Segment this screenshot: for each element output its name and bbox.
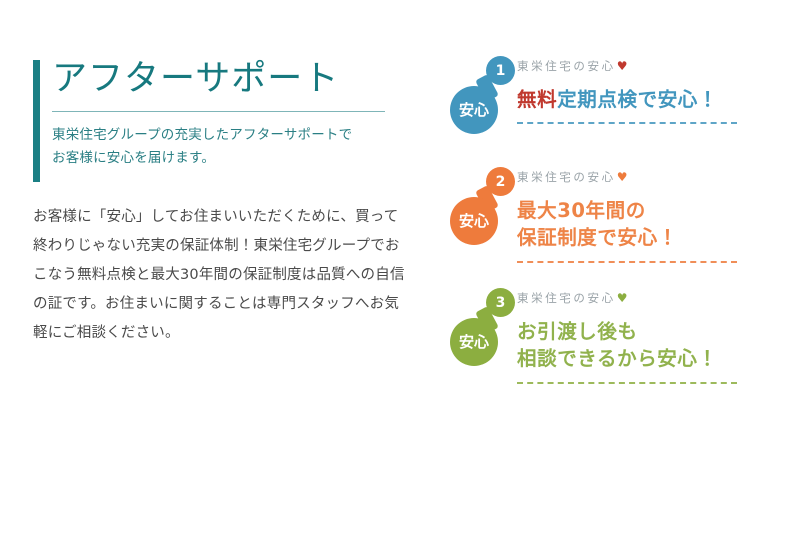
point-headline-highlight: 無料 <box>517 88 557 111</box>
point-content: 東栄住宅の安心♥ 最大30年間の 保証制度で安心！ <box>517 163 747 263</box>
point-headline-line-2: 相談できるから安心！ <box>517 345 747 373</box>
point-headline-rest: 定期点検で安心！ <box>557 88 718 111</box>
list-item: 安心 1 東栄住宅の安心♥ 無料定期点検で安心！ <box>447 52 747 163</box>
point-headline-line-1: 最大30年間の <box>517 197 747 225</box>
title-subtitle: 東栄住宅グループの充実したアフターサポートで お客様に安心を届けます。 <box>52 124 413 171</box>
point-subtitle: 東栄住宅の安心♥ <box>517 163 747 184</box>
point-headline: 無料定期点検で安心！ <box>517 86 747 114</box>
badge-circle: 安心 <box>450 86 498 134</box>
list-item: 安心 2 東栄住宅の安心♥ 最大30年間の 保証制度で安心！ <box>447 163 747 284</box>
point-subtitle-text: 東栄住宅の安心 <box>517 59 616 73</box>
point-badge-3: 安心 3 <box>447 284 515 366</box>
heart-icon: ♥ <box>617 170 628 184</box>
badge-number: 3 <box>496 296 506 310</box>
badge-label: 安心 <box>459 335 489 350</box>
badge-number-circle: 3 <box>486 288 515 317</box>
badge-number-circle: 2 <box>486 167 515 196</box>
point-subtitle-text: 東栄住宅の安心 <box>517 291 616 305</box>
point-headline: 最大30年間の 保証制度で安心！ <box>517 197 747 252</box>
intro-section: アフターサポート 東栄住宅グループの充実したアフターサポートで お客様に安心を届… <box>33 58 413 363</box>
title-divider <box>52 111 385 112</box>
badge-number: 2 <box>496 175 506 189</box>
badge-number: 1 <box>496 64 506 78</box>
page-title: アフターサポート <box>52 58 413 102</box>
point-dashed-divider <box>517 261 737 263</box>
point-headline: お引渡し後も 相談できるから安心！ <box>517 318 747 373</box>
point-dashed-divider <box>517 382 737 384</box>
list-item: 安心 3 東栄住宅の安心♥ お引渡し後も 相談できるから安心！ <box>447 284 747 404</box>
badge-label: 安心 <box>459 103 489 118</box>
heart-icon: ♥ <box>617 59 628 73</box>
heart-icon: ♥ <box>617 291 628 305</box>
point-subtitle: 東栄住宅の安心♥ <box>517 284 747 305</box>
title-subtitle-line-1: 東栄住宅グループの充実したアフターサポートで <box>52 124 413 148</box>
point-content: 東栄住宅の安心♥ お引渡し後も 相談できるから安心！ <box>517 284 747 384</box>
badge-label: 安心 <box>459 214 489 229</box>
point-subtitle: 東栄住宅の安心♥ <box>517 52 747 73</box>
badge-circle: 安心 <box>450 197 498 245</box>
body-paragraph: お客様に「安心」してお住まいいただくために、買って終わりじゃない充実の保証体制！… <box>33 203 411 348</box>
point-dashed-divider <box>517 122 737 124</box>
point-content: 東栄住宅の安心♥ 無料定期点検で安心！ <box>517 52 747 124</box>
accent-bar <box>33 60 40 182</box>
title-subtitle-line-2: お客様に安心を届けます。 <box>52 147 413 171</box>
point-badge-1: 安心 1 <box>447 52 515 134</box>
badge-circle: 安心 <box>450 318 498 366</box>
point-headline-line-1: お引渡し後も <box>517 318 747 346</box>
badge-number-circle: 1 <box>486 56 515 85</box>
points-list: 安心 1 東栄住宅の安心♥ 無料定期点検で安心！ 安心 2 東栄住宅の安心♥ 最 <box>447 52 747 404</box>
point-subtitle-text: 東栄住宅の安心 <box>517 170 616 184</box>
title-block: アフターサポート 東栄住宅グループの充実したアフターサポートで お客様に安心を届… <box>33 58 413 171</box>
point-badge-2: 安心 2 <box>447 163 515 245</box>
point-headline-line-2: 保証制度で安心！ <box>517 224 747 252</box>
